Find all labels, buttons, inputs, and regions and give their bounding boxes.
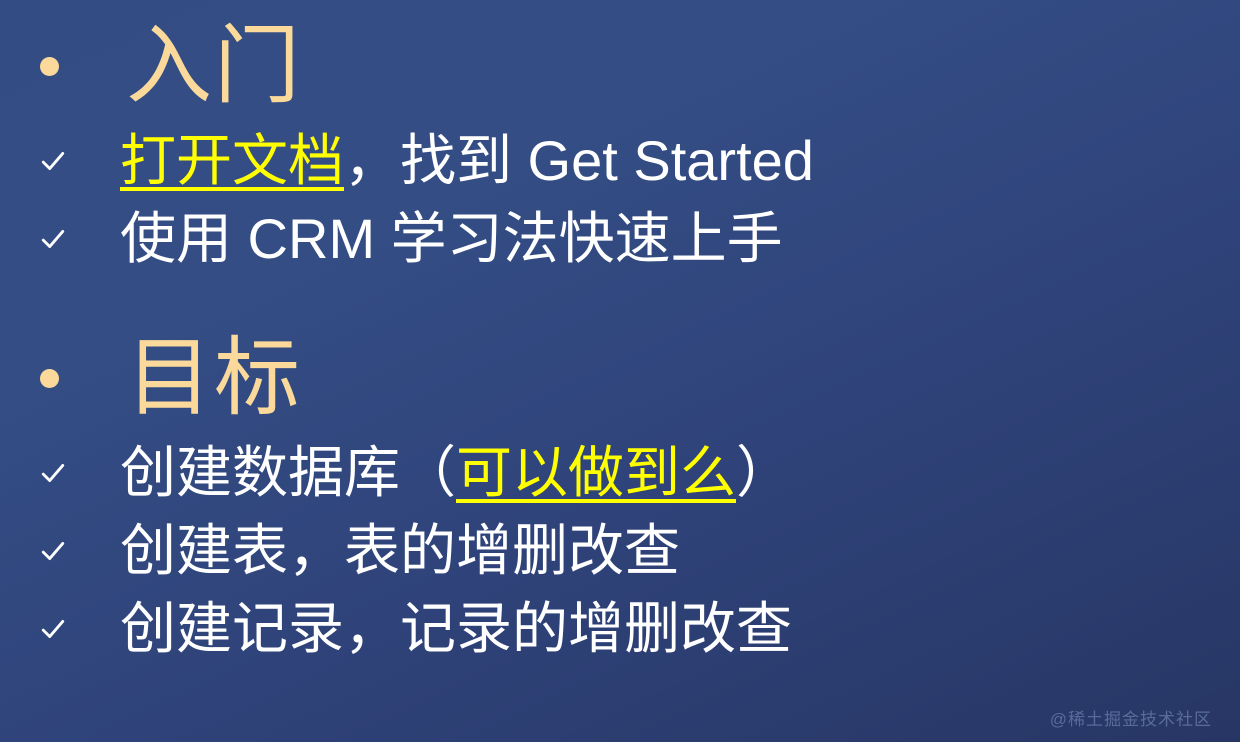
list-item-text-highlight: 可以做到么: [456, 441, 736, 504]
list-item-text-plain: ，找到 Get Started: [344, 129, 814, 192]
list-item-text-plain: 创建表，表的增删改查: [120, 519, 680, 582]
list-item-text-plain: 创建记录，记录的增删改查: [120, 597, 792, 660]
list-item: 创建数据库（可以做到么）: [0, 434, 1240, 512]
presentation-slide: 入门 打开文档，找到 Get Started 使用 CRM 学习法快速上手 目标…: [0, 0, 1240, 742]
section-heading-row: 入门: [0, 10, 1240, 122]
list-item-text: 创建记录，记录的增删改查: [120, 599, 792, 659]
list-item: 创建表，表的增删改查: [0, 512, 1240, 590]
list-item-text-highlight: 打开文档: [120, 129, 344, 192]
section-heading-title: 目标: [126, 335, 302, 421]
list-item: 使用 CRM 学习法快速上手: [0, 200, 1240, 278]
check-icon: [40, 616, 66, 642]
filled-circle-bullet-icon: [40, 369, 59, 388]
list-item-text-plain: ）: [736, 441, 792, 504]
list-item-text-plain: 使用 CRM 学习法快速上手: [120, 207, 783, 270]
check-icon: [40, 460, 66, 486]
check-icon: [40, 148, 66, 174]
section-heading-title: 入门: [126, 23, 302, 109]
list-item-text: 创建表，表的增删改查: [120, 521, 680, 581]
watermark-text: @稀土掘金技术社区: [1050, 705, 1212, 730]
check-icon: [40, 538, 66, 564]
list-item-text: 创建数据库（可以做到么）: [120, 443, 792, 503]
filled-circle-bullet-icon: [40, 57, 59, 76]
check-icon: [40, 226, 66, 252]
list-item-text-plain: 创建数据库（: [120, 441, 456, 504]
list-item-text: 打开文档，找到 Get Started: [120, 131, 814, 191]
slide-section-getting-started: 入门 打开文档，找到 Get Started 使用 CRM 学习法快速上手: [0, 10, 1240, 278]
slide-section-goals: 目标 创建数据库（可以做到么） 创建表，表的增删改查 创建记录，记录的增删改查: [0, 322, 1240, 668]
section-heading-row: 目标: [0, 322, 1240, 434]
list-item-text: 使用 CRM 学习法快速上手: [120, 209, 783, 269]
list-item: 打开文档，找到 Get Started: [0, 122, 1240, 200]
list-item: 创建记录，记录的增删改查: [0, 590, 1240, 668]
